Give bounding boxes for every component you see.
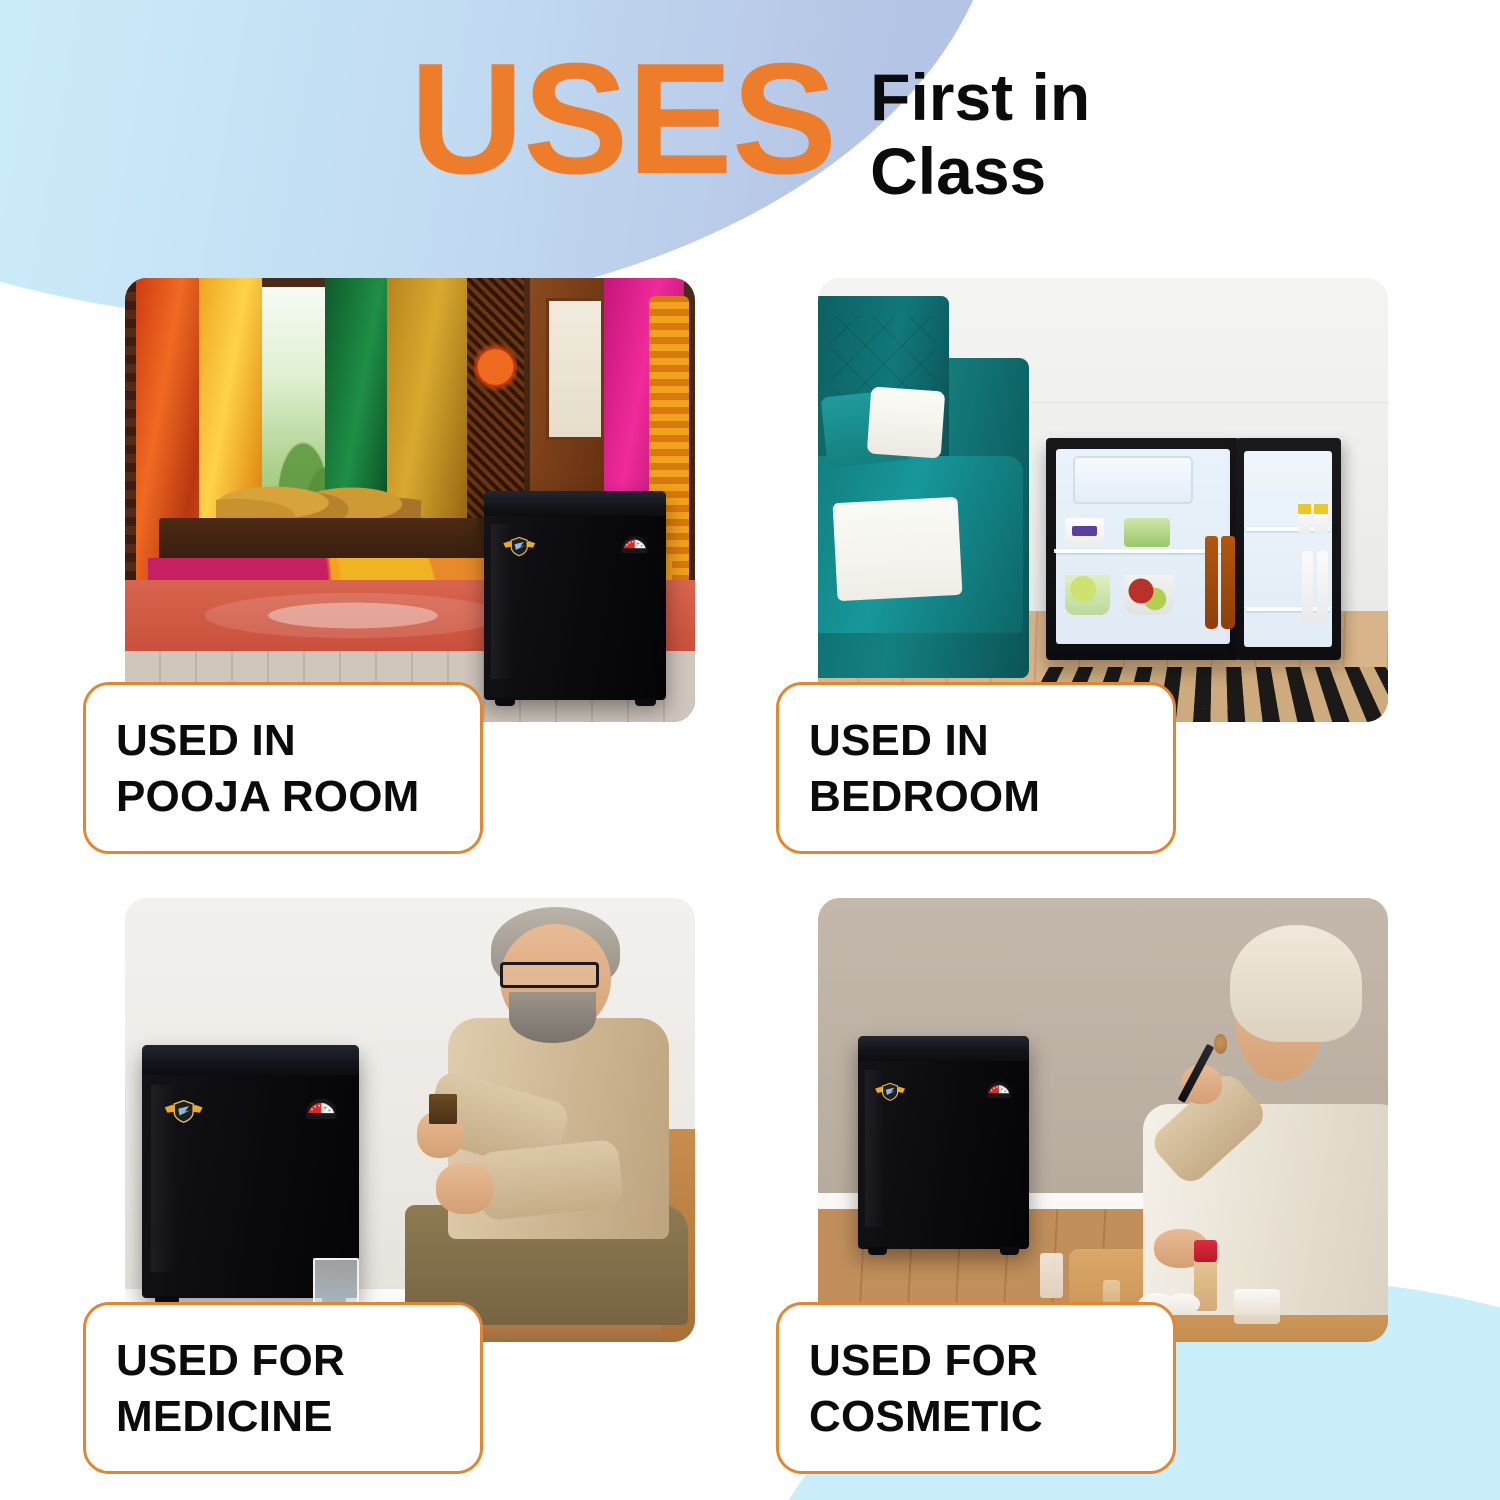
milk-bottle-1 — [1302, 551, 1314, 624]
energy-rating-badge-icon — [621, 534, 648, 557]
use-case-card-bedroom: USED IN BEDROOM — [818, 278, 1388, 722]
fridge-foot-right — [1000, 1247, 1019, 1255]
fridge-foot-left — [495, 698, 515, 706]
medicine-bottle — [429, 1094, 457, 1124]
woman-applying-makeup — [1137, 925, 1388, 1316]
door-tub-2 — [1314, 504, 1328, 533]
page-header: USES First in Class — [0, 44, 1500, 234]
hair-towel-wrap — [1230, 925, 1361, 1042]
photo-bedroom — [818, 278, 1388, 722]
man-beard — [509, 992, 595, 1043]
brand-shield-icon — [162, 1095, 205, 1128]
caption-pooja-room: USED IN POOJA ROOM — [83, 682, 483, 854]
fridge-open-door — [1236, 438, 1341, 660]
caption-cosmetic: USED FOR COSMETIC — [776, 1302, 1176, 1474]
page-subtitle: First in Class — [870, 44, 1090, 208]
energy-rating-badge-icon — [986, 1079, 1012, 1102]
caption-line-2: BEDROOM — [809, 769, 1143, 825]
milk-bottle-2 — [1317, 551, 1329, 624]
caption-line-1: USED FOR — [116, 1333, 450, 1389]
fruit-plate — [1124, 575, 1174, 615]
energy-rating-badge-icon — [305, 1096, 337, 1124]
caption-line-1: USED FOR — [809, 1333, 1143, 1389]
mini-fridge-product — [858, 1036, 1029, 1249]
apples-bowl — [1065, 575, 1110, 615]
caption-line-2: COSMETIC — [809, 1389, 1143, 1445]
mini-fridge-open-product — [1046, 438, 1240, 660]
white-pillow — [867, 386, 946, 458]
page-subtitle-line1: First in — [870, 60, 1090, 134]
use-case-card-medicine: USED FOR MEDICINE — [125, 898, 695, 1342]
caption-line-1: USED IN — [116, 713, 450, 769]
caption-line-2: POOJA ROOM — [116, 769, 450, 825]
page-title: USES — [410, 44, 836, 194]
pooja-carved-panel — [467, 278, 524, 518]
brand-shield-icon — [501, 533, 537, 560]
white-bedsheet — [833, 497, 963, 601]
fridge-top-cap — [858, 1036, 1029, 1062]
yogurt-tub — [1065, 518, 1104, 547]
man-taking-medicine — [399, 907, 695, 1333]
door-tub-1 — [1298, 504, 1312, 533]
mini-fridge-product — [484, 491, 666, 700]
green-peas-container — [1124, 518, 1171, 547]
fridge-foot-left — [868, 1247, 887, 1255]
use-case-card-cosmetic: USED FOR COSMETIC — [818, 898, 1388, 1342]
photo-pooja-room — [125, 278, 695, 722]
man-open-palm — [436, 1163, 494, 1214]
caption-bedroom: USED IN BEDROOM — [776, 682, 1176, 854]
serum-dropper-bottle — [1040, 1253, 1063, 1297]
caption-medicine: USED FOR MEDICINE — [83, 1302, 483, 1474]
infographic-page: USES First in Class — [0, 0, 1500, 1500]
fridge-top-cap — [142, 1045, 359, 1075]
use-case-card-pooja-room: USED IN POOJA ROOM — [125, 278, 695, 722]
fridge-top-cap — [484, 491, 666, 516]
caption-line-2: MEDICINE — [116, 1389, 450, 1445]
freezer-compartment — [1073, 456, 1193, 505]
page-subtitle-line2: Class — [870, 134, 1090, 208]
cream-jar — [1234, 1289, 1280, 1325]
eyeglasses-icon — [500, 962, 598, 988]
juice-bottle-1 — [1205, 536, 1219, 629]
makeup-brush-tip — [1214, 1034, 1228, 1054]
photo-cosmetic — [818, 898, 1388, 1342]
brand-shield-icon — [873, 1078, 907, 1106]
juice-bottle-2 — [1221, 536, 1235, 629]
caption-line-1: USED IN — [809, 713, 1143, 769]
man-right-arm — [475, 1138, 623, 1221]
fridge-foot-right — [635, 698, 655, 706]
photo-medicine — [125, 898, 695, 1342]
lipstick-cap — [1194, 1240, 1217, 1262]
